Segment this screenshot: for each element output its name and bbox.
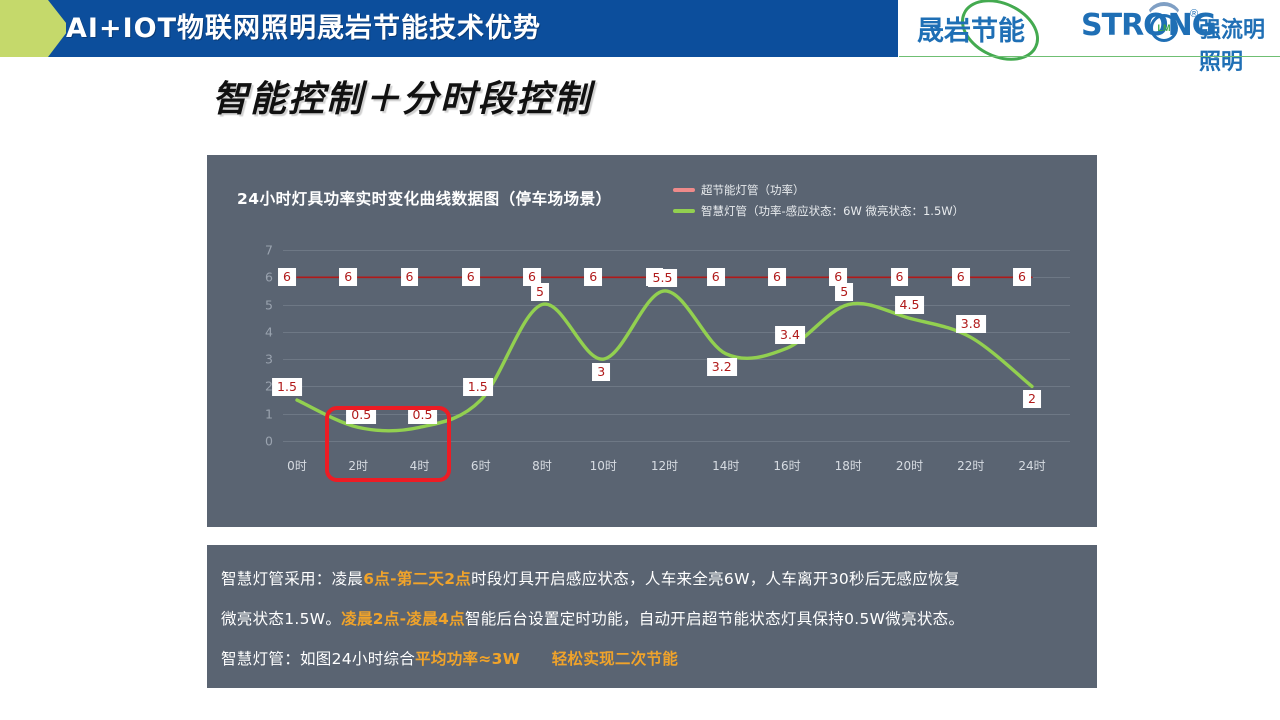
data-label-s0-p1: 6 [339, 268, 357, 286]
footer-text-panel: 智慧灯管采用：凌晨6点-第二天2点时段灯具开启感应状态，人车来全亮6W，人车离开… [207, 545, 1097, 688]
data-label-s0-p5: 6 [584, 268, 602, 286]
footer-segment-0: 智慧灯管采用：凌晨 [221, 570, 363, 588]
data-label-s0-p8: 6 [768, 268, 786, 286]
data-label-s1-p11: 3.8 [956, 315, 986, 333]
data-label-s0-p2: 6 [401, 268, 419, 286]
x-axis-tick-9: 18时 [835, 457, 862, 474]
data-label-s1-p9: 5 [835, 283, 853, 301]
highlight-annotation-box [325, 406, 450, 482]
x-axis-tick-8: 16时 [773, 457, 800, 474]
data-label-s1-p7: 3.2 [707, 358, 737, 376]
header-title: AI+IOT物联网照明晟岩节能技术优势 [66, 10, 886, 50]
data-label-s1-p3: 1.5 [463, 378, 493, 396]
footer-line-1: 智慧灯管采用：凌晨6点-第二天2点时段灯具开启感应状态，人车来全亮6W，人车离开… [221, 567, 960, 589]
footer-segment-2: 智能后台设置定时功能，自动开启超节能状态灯具保持0.5W微亮状态。 [465, 610, 964, 628]
footer-segment-2 [520, 650, 552, 668]
x-axis-tick-0: 0时 [287, 457, 307, 474]
logo-brand-cn: 晟岩节能 [917, 9, 1025, 48]
footer-line-2: 微亮状态1.5W。凌晨2点-凌晨4点智能后台设置定时功能，自动开启超节能状态灯具… [221, 607, 964, 629]
footer-segment-1-highlight: 6点-第二天2点 [363, 570, 471, 588]
x-axis-tick-11: 22时 [957, 457, 984, 474]
logo-registered-icon: ® [1190, 8, 1198, 20]
data-label-s1-p6: 5.5 [648, 269, 678, 287]
data-label-s1-p4: 5 [531, 283, 549, 301]
chart-panel: 24小时灯具功率实时变化曲线数据图（停车场场景） 超节能灯管（功率）智慧灯管（功… [207, 155, 1097, 527]
footer-segment-0: 微亮状态1.5W。 [221, 610, 341, 628]
data-label-s0-p7: 6 [707, 268, 725, 286]
x-axis-tick-12: 24时 [1018, 457, 1045, 474]
data-label-s1-p0: 1.5 [272, 378, 302, 396]
data-label-s1-p12: 2 [1023, 390, 1041, 408]
brand-logo: 晟岩节能 STRONG LM ® 强流明照明 [899, 0, 1280, 57]
data-label-s0-p3: 6 [462, 268, 480, 286]
logo-underline [899, 56, 1280, 57]
x-axis-tick-4: 8时 [532, 457, 552, 474]
footer-line-3: 智慧灯管：如图24小时综合平均功率≈3W 轻松实现二次节能 [221, 647, 678, 669]
x-axis-tick-7: 14时 [712, 457, 739, 474]
x-axis-tick-6: 12时 [651, 457, 678, 474]
slide-title: 智能控制＋分时段控制 [212, 70, 592, 122]
footer-segment-1-highlight: 凌晨2点-凌晨4点 [341, 610, 465, 628]
x-axis-tick-10: 20时 [896, 457, 923, 474]
data-label-s0-p0: 6 [278, 268, 296, 286]
slide-header: AI+IOT物联网照明晟岩节能技术优势 晟岩节能 STRONG LM ® 强流明… [0, 0, 1280, 58]
data-label-s0-p10: 6 [891, 268, 909, 286]
data-label-s0-p12: 6 [1013, 268, 1031, 286]
x-axis-tick-3: 6时 [471, 457, 491, 474]
data-label-s1-p5: 3 [592, 363, 610, 381]
footer-segment-1-highlight: 平均功率≈3W [415, 650, 520, 668]
data-label-s1-p8: 3.4 [775, 326, 805, 344]
logo-brand-tail: 强流明照明 [1199, 12, 1280, 76]
footer-segment-3-highlight: 轻松实现二次节能 [552, 650, 678, 668]
chart-plot-area: 012345670时2时4时6时8时10时12时14时16时18时20时22时2… [207, 155, 1097, 527]
x-axis-tick-5: 10时 [590, 457, 617, 474]
data-label-s1-p10: 4.5 [895, 296, 925, 314]
data-label-s0-p11: 6 [952, 268, 970, 286]
footer-segment-2: 时段灯具开启感应状态，人车来全亮6W，人车离开30秒后无感应恢复 [471, 570, 960, 588]
footer-segment-0: 智慧灯管：如图24小时综合 [221, 650, 415, 668]
logo-lm-badge: LM [1150, 14, 1178, 42]
